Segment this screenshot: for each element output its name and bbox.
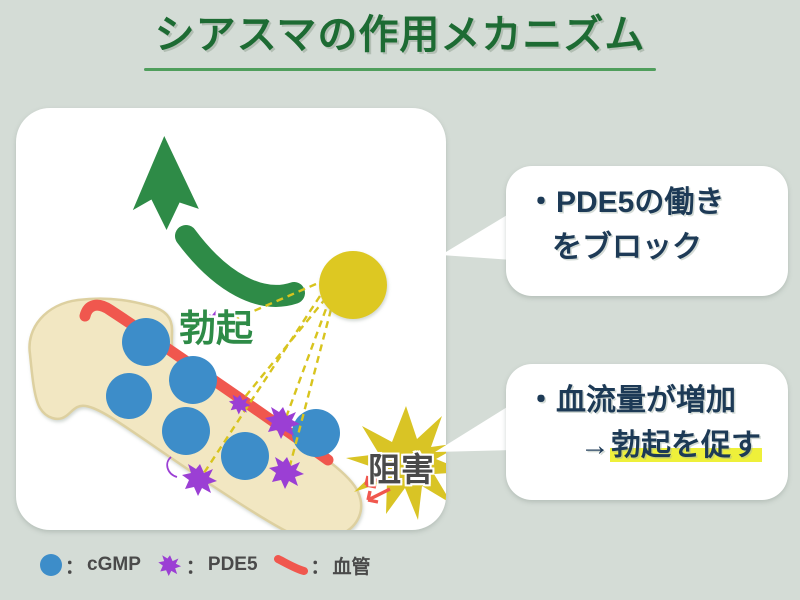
legend-separator: ： [311, 552, 330, 579]
cgmp-circle-icon [292, 409, 340, 457]
title-underline-rule [144, 68, 656, 71]
callout-2-line-2: →勃起を促す [526, 423, 770, 468]
diagram-panel: 勃起 シアスマ 阻害 血流 [16, 108, 446, 530]
callout-1-tail-icon [441, 212, 512, 260]
pde5-star-icon [157, 552, 183, 578]
legend-label-cgmp: cGMP [87, 554, 141, 576]
legend-label-pde5: PDE5 [208, 554, 258, 576]
title-area: シアスマの作用メカニズム [0, 8, 800, 90]
cgmp-circle-icon [106, 373, 152, 419]
legend: ： cGMP ： PDE5 ： 血管 [40, 548, 440, 582]
callout-2-arrow: → [580, 429, 610, 462]
callout-2-tail-icon [435, 404, 512, 452]
drug-name-label: シアスマ [322, 384, 376, 403]
cgmp-circle-icon [162, 407, 210, 455]
legend-item-cgmp: ： cGMP [40, 552, 141, 579]
legend-item-vessel: ： 血管 [274, 552, 371, 579]
callout-1-line-1: ・PDE5の働き [526, 180, 770, 225]
page-title: シアスマの作用メカニズム [0, 8, 800, 62]
legend-item-pde5: ： PDE5 [157, 552, 258, 579]
siasma-drug-circle [319, 251, 387, 319]
cgmp-circle-icon [221, 432, 269, 480]
callout-1-line-2: をブロック [526, 225, 770, 270]
callout-2-highlighted-text: 勃起を促す [610, 429, 762, 462]
cgmp-circle-icon [40, 554, 62, 576]
callout-blood-flow: ・血流量が増加 →勃起を促す [506, 364, 788, 500]
callout-block-pde5: ・PDE5の働き をブロック [506, 166, 788, 296]
inhibition-label: 阻害 [368, 443, 434, 491]
erection-arrow-icon [130, 135, 294, 296]
legend-separator: ： [65, 552, 84, 579]
erection-label: 勃起 [179, 298, 253, 352]
blood-vessel-icon [274, 554, 308, 576]
legend-separator: ： [186, 552, 205, 579]
legend-label-vessel: 血管 [333, 552, 371, 579]
cgmp-circle-icon [169, 356, 217, 404]
cgmp-circle-icon [122, 318, 170, 366]
callout-2-line-1: ・血流量が増加 [526, 378, 770, 423]
